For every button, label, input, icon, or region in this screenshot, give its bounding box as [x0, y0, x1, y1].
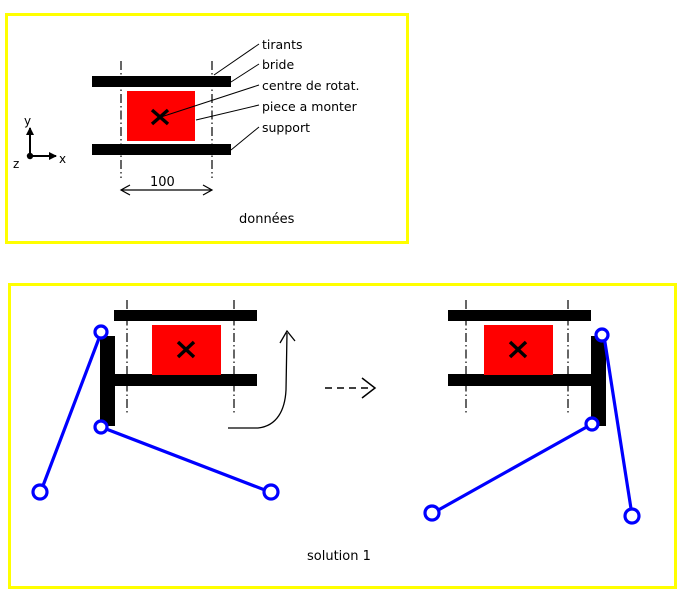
- panel-solution1: [8, 283, 677, 589]
- callout-label-centre-de-rotat: centre de rotat.: [262, 79, 359, 93]
- callout-label-piece-a-monter: piece a monter: [262, 100, 357, 114]
- panel-donnees: [5, 13, 409, 244]
- dimension-label-100: 100: [150, 175, 175, 190]
- axis-label-y: y: [24, 114, 31, 128]
- callout-label-tirants: tirants: [262, 38, 303, 52]
- callout-label-bride: bride: [262, 58, 294, 72]
- diagram-root: tirants bride centre de rotat. piece a m…: [0, 0, 690, 600]
- caption-solution-1: solution 1: [307, 549, 371, 564]
- callout-label-support: support: [262, 121, 310, 135]
- axis-label-z: z: [13, 157, 19, 171]
- caption-donnees: données: [239, 212, 294, 227]
- axis-label-x: x: [59, 152, 66, 166]
